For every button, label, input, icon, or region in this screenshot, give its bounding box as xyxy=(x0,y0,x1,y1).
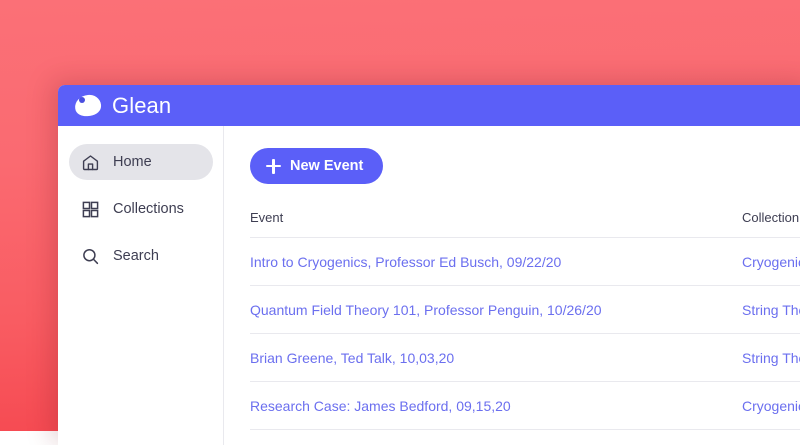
table-row[interactable]: Brian Greene, Ted Talk, 10,03,20 String … xyxy=(250,334,800,382)
app-brand-name: Glean xyxy=(112,93,171,119)
cell-event[interactable]: Brian Greene, Ted Talk, 10,03,20 xyxy=(250,334,742,382)
main-content: New Event Event Collection Intro to Cryo… xyxy=(224,126,800,445)
column-header-collection[interactable]: Collection xyxy=(742,210,800,238)
glean-blob-logo xyxy=(75,95,101,116)
sidebar-item-home[interactable]: Home xyxy=(69,144,213,180)
new-event-button[interactable]: New Event xyxy=(250,148,383,184)
events-table: Event Collection Intro to Cryogenics, Pr… xyxy=(250,210,800,430)
home-icon xyxy=(81,153,100,172)
table-row[interactable]: Intro to Cryogenics, Professor Ed Busch,… xyxy=(250,238,800,286)
cell-collection[interactable]: String Theory xyxy=(742,286,800,334)
cell-event[interactable]: Quantum Field Theory 101, Professor Peng… xyxy=(250,286,742,334)
sidebar-item-collections[interactable]: Collections xyxy=(69,191,213,227)
sidebar: Home Collections xyxy=(58,126,224,445)
column-header-event[interactable]: Event xyxy=(250,210,742,238)
cell-event[interactable]: Research Case: James Bedford, 09,15,20 xyxy=(250,382,742,430)
sidebar-item-label: Collections xyxy=(113,201,184,217)
app-window: Glean Home xyxy=(58,85,800,445)
cell-collection[interactable]: Cryogenics xyxy=(742,382,800,430)
table-row[interactable]: Quantum Field Theory 101, Professor Peng… xyxy=(250,286,800,334)
table-header-row: Event Collection xyxy=(250,210,800,238)
cell-collection[interactable]: Cryogenics xyxy=(742,238,800,286)
new-event-button-label: New Event xyxy=(290,158,363,174)
events-table-body: Intro to Cryogenics, Professor Ed Busch,… xyxy=(250,238,800,430)
app-titlebar: Glean xyxy=(58,85,800,126)
events-table-head: Event Collection xyxy=(250,210,800,238)
cell-event[interactable]: Intro to Cryogenics, Professor Ed Busch,… xyxy=(250,238,742,286)
table-row[interactable]: Research Case: James Bedford, 09,15,20 C… xyxy=(250,382,800,430)
plus-icon xyxy=(266,159,281,174)
sidebar-item-label: Home xyxy=(113,154,152,170)
sidebar-item-label: Search xyxy=(113,248,159,264)
window-body: Home Collections xyxy=(58,126,800,445)
search-icon xyxy=(81,247,100,266)
grid-icon xyxy=(81,200,100,219)
cell-collection[interactable]: String Theory xyxy=(742,334,800,382)
sidebar-item-search[interactable]: Search xyxy=(69,238,213,274)
